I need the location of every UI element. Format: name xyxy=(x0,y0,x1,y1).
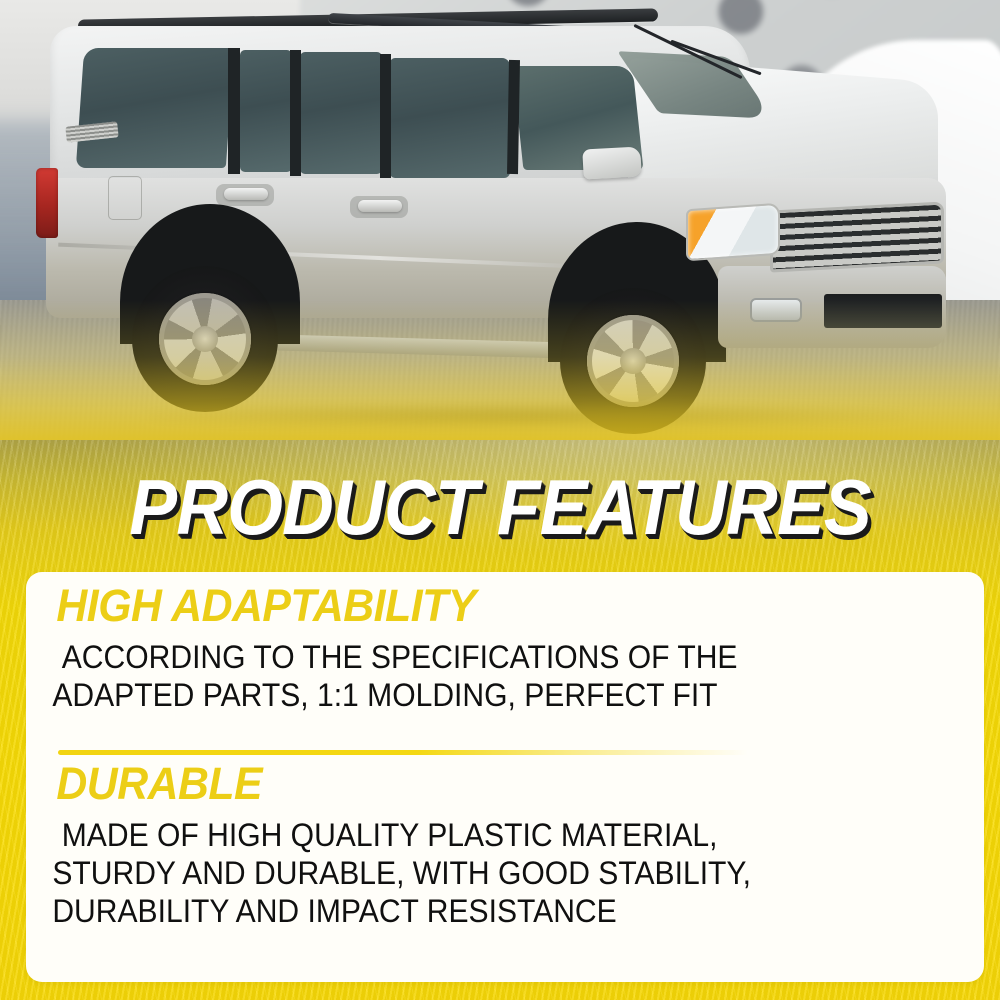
tail-light xyxy=(36,168,58,238)
rear-quarter-window xyxy=(76,48,234,168)
feature-divider xyxy=(58,750,748,755)
feature-heading: DURABLE xyxy=(26,758,936,810)
feature-body-line: ADAPTED PARTS, 1:1 MOLDING, PERFECT FIT xyxy=(52,676,926,714)
feature-body: MADE OF HIGH QUALITY PLASTIC MATERIAL, S… xyxy=(26,810,927,930)
yellow-fade-overlay xyxy=(0,300,1000,450)
features-card: HIGH ADAPTABILITY ACCORDING TO THE SPECI… xyxy=(26,572,984,982)
window-pillar xyxy=(380,54,391,178)
headlight xyxy=(686,203,780,262)
feature-body-line: MADE OF HIGH QUALITY PLASTIC MATERIAL, xyxy=(52,816,926,854)
front-door-handle xyxy=(358,200,402,212)
rear-side-window xyxy=(240,50,292,172)
side-mirror xyxy=(582,147,641,180)
feature-block-durable: DURABLE MADE OF HIGH QUALITY PLASTIC MAT… xyxy=(26,758,984,930)
product-features-banner: PRODUCT FEATURES HIGH ADAPTABILITY ACCOR… xyxy=(0,0,1000,1000)
feature-body-line: DURABILITY AND IMPACT RESISTANCE xyxy=(52,892,926,930)
feature-heading: HIGH ADAPTABILITY xyxy=(26,580,936,632)
rear-door-window xyxy=(300,52,382,174)
hero-photo xyxy=(0,0,1000,450)
window-pillar xyxy=(228,48,240,174)
feature-body-line: ACCORDING TO THE SPECIFICATIONS OF THE xyxy=(52,638,926,676)
front-door-window xyxy=(390,58,510,178)
window-pillar xyxy=(290,50,301,176)
fuel-door xyxy=(108,176,142,220)
rear-door-handle xyxy=(224,188,268,200)
feature-block-high-adaptability: HIGH ADAPTABILITY ACCORDING TO THE SPECI… xyxy=(26,580,984,714)
feature-body-line: STURDY AND DURABLE, WITH GOOD STABILITY, xyxy=(52,854,926,892)
window-pillar xyxy=(507,60,520,174)
front-grille xyxy=(770,201,944,272)
feature-body: ACCORDING TO THE SPECIFICATIONS OF THE A… xyxy=(26,632,927,714)
page-title: PRODUCT FEATURES xyxy=(40,470,960,544)
